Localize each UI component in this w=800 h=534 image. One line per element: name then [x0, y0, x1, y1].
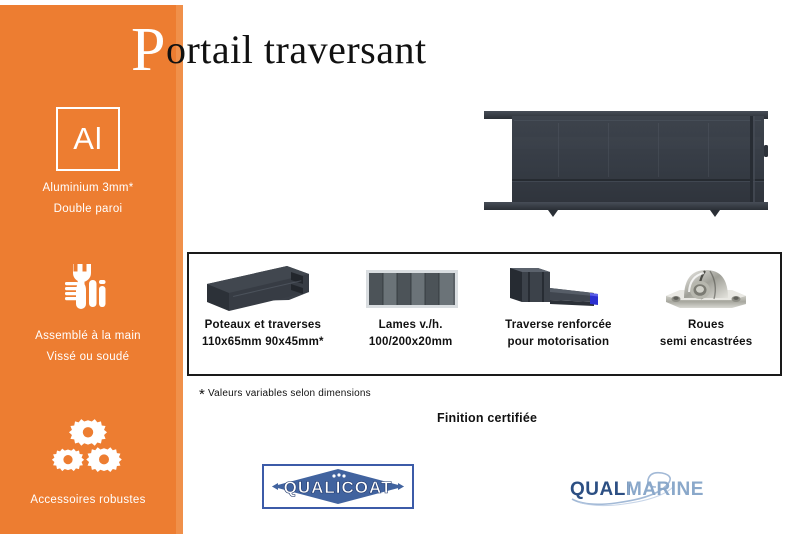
sidebar-item-accessories-line1: Accessoires robustes [0, 490, 176, 511]
aluminium-post-profile-icon [203, 261, 323, 315]
sidebar-item-aluminium: Al Aluminium 3mm* Double paroi [0, 100, 176, 220]
wheel-bearing-icon [656, 261, 756, 315]
sidebar-item-aluminium-line1: Aluminium 3mm* [0, 178, 176, 199]
hand-wrench-icon [0, 248, 176, 326]
footnote: *Valeurs variables selon dimensions [202, 383, 371, 400]
sidebar-item-assembly-line1: Assemblé à la main [0, 326, 176, 347]
page-title: Portail traversant [131, 26, 427, 73]
spec-item-slats-line1: Lames v./h. [379, 319, 443, 331]
sidebar-item-assembly-line2: Vissé ou soudé [0, 347, 176, 368]
slide-page: Al Aluminium 3mm* Double paroi [0, 0, 800, 534]
page-title-initial: P [131, 16, 166, 84]
gears-icon [0, 412, 176, 490]
slat-panel-icon [356, 261, 466, 315]
aluminium-square-icon-text: Al [56, 107, 120, 171]
spec-item-crossbar-line1: Traverse renforcée [505, 319, 612, 331]
spec-item-posts-line2: 110x65mm 90x45mm* [202, 336, 324, 348]
specs-box: Poteaux et traverses 110x65mm 90x45mm* [187, 252, 782, 376]
spec-item-posts-line1: Poteaux et traverses [205, 319, 322, 331]
aluminium-square-icon: Al [0, 100, 176, 178]
sidebar-edge-strip [176, 5, 183, 534]
svg-text:MARINE: MARINE [626, 479, 704, 500]
qualimarine-logo: QUALI MARINE [562, 468, 712, 508]
spec-item-slats-line2: 100/200x20mm [369, 336, 453, 348]
spec-item-wheels-line2: semi encastrées [660, 336, 753, 348]
sliding-gate-photo [478, 103, 774, 218]
footnote-text: Valeurs variables selon dimensions [208, 388, 371, 399]
reinforced-crossbar-icon [498, 261, 618, 315]
page-title-rest: ortail traversant [166, 27, 427, 72]
qualicoat-logo: QUALICOAT [262, 464, 414, 509]
sidebar-item-assembly: Assemblé à la main Vissé ou soudé [0, 248, 176, 368]
svg-text:QUALI: QUALI [570, 479, 632, 500]
footnote-star: * [199, 386, 205, 403]
spec-item-wheels: Roues semi encastrées [632, 254, 780, 374]
sidebar-item-accessories: Accessoires robustes [0, 412, 176, 511]
spec-item-wheels-line1: Roues [688, 319, 724, 331]
spec-item-crossbar-line2: pour motorisation [507, 336, 609, 348]
certification-heading: Finition certifiée [437, 411, 537, 425]
spec-item-posts: Poteaux et traverses 110x65mm 90x45mm* [189, 254, 337, 374]
spec-item-slats: Lames v./h. 100/200x20mm [337, 254, 485, 374]
svg-text:QUALICOAT: QUALICOAT [284, 478, 393, 497]
sidebar-item-aluminium-line2: Double paroi [0, 199, 176, 220]
spec-item-crossbar: Traverse renforcée pour motorisation [485, 254, 633, 374]
